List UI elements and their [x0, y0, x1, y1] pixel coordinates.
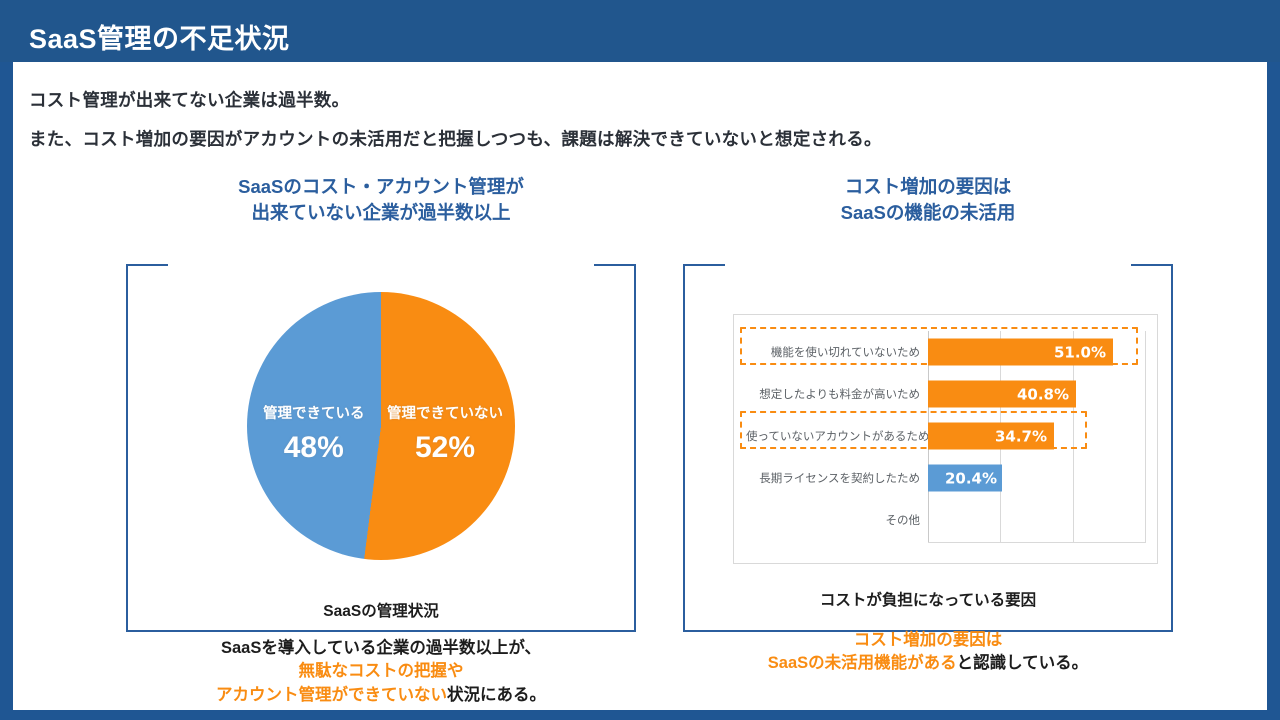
slide-root: SaaS管理の不足状況 コスト管理が出来てない企業は過半数。 また、コスト増加の… — [0, 0, 1280, 720]
panel-cost-drivers: コスト増加の要因は SaaSの機能の未活用 — [683, 174, 1173, 654]
bar-value: 34.7% — [928, 423, 1054, 450]
panel-right-footer: コスト増加の要因は SaaSの未活用機能があると認識している。 — [683, 629, 1173, 676]
bar-row: その他 — [746, 499, 1146, 541]
panel-right-footer-line-2-rest: と認識している。 — [957, 654, 1089, 672]
bar-value-label: 34.7% — [995, 427, 1054, 445]
bar-category-label: 長期ライセンスを契約したため — [746, 470, 928, 486]
gridline-baseline — [928, 542, 1146, 543]
bar-track — [928, 499, 1146, 541]
bar-value-label: 51.0% — [1054, 343, 1113, 361]
pie-chart-caption: SaaSの管理状況 — [126, 599, 636, 621]
bar-row: 想定したよりも料金が高いため 40.8% — [746, 373, 1146, 415]
bar-track: 20.4% — [928, 457, 1146, 499]
panel-left-title: SaaSのコスト・アカウント管理が 出来ていない企業が過半数以上 — [126, 174, 636, 227]
panel-right-footer-line-1: コスト増加の要因は — [683, 629, 1173, 652]
bar-category-label: 想定したよりも料金が高いため — [746, 386, 928, 402]
panel-right-title: コスト増加の要因は SaaSの機能の未活用 — [683, 174, 1173, 227]
bar-chart-caption: コストが負担になっている要因 — [683, 588, 1173, 610]
panel-left-footer: SaaSを導入している企業の過半数以上が、 無駄なコストの把握や アカウント管理… — [126, 637, 636, 707]
bar-value-label: 40.8% — [1017, 385, 1076, 403]
panel-left-footer-line-1: SaaSを導入している企業の過半数以上が、 — [126, 637, 636, 660]
panel-left-footer-line-3: アカウント管理ができていない状況にある。 — [126, 684, 636, 707]
bar-value: 51.0% — [928, 339, 1113, 366]
slide-body: コスト管理が出来てない企業は過半数。 また、コスト増加の要因がアカウントの未活用… — [13, 62, 1267, 710]
slide-header: SaaS管理の不足状況 — [0, 0, 1280, 62]
bar-category-label: その他 — [746, 512, 928, 528]
bar-value: 40.8% — [928, 381, 1076, 408]
bar-value-label: 20.4% — [945, 469, 1002, 487]
pie-slice-label-unmanaged: 管理できていない 52% — [387, 407, 503, 466]
page-title: SaaS管理の不足状況 — [29, 17, 290, 56]
bar-category-label: 機能を使い切れていないため — [746, 344, 928, 360]
pie-slice-label-managed: 管理できている 48% — [263, 407, 365, 466]
bar-track: 34.7% — [928, 415, 1146, 457]
panel-right-footer-line-2: SaaSの未活用機能があると認識している。 — [683, 652, 1173, 675]
pie-chart: 管理できている 48% 管理できていない 52% — [126, 292, 636, 592]
bar-row: 長期ライセンスを契約したため 20.4% — [746, 457, 1146, 499]
lead-line-2: また、コスト増加の要因がアカウントの未活用だと把握しつつも、課題は解決できていな… — [29, 126, 882, 151]
bar-chart-plot: 機能を使い切れていないため 51.0% 想定したよりも料金が高いため 40.8% — [746, 325, 1146, 555]
bar-chart: 機能を使い切れていないため 51.0% 想定したよりも料金が高いため 40.8% — [733, 314, 1158, 564]
bar-track: 51.0% — [928, 331, 1146, 373]
panel-left-footer-line-3-highlight: アカウント管理ができていない — [216, 686, 447, 704]
panel-left-footer-line-2: 無駄なコストの把握や — [126, 660, 636, 683]
panel-left-footer-line-3-rest: 状況にある。 — [447, 686, 546, 704]
panel-saas-management: SaaSのコスト・アカウント管理が 出来ていない企業が過半数以上 管理できている… — [126, 174, 636, 654]
lead-line-1: コスト管理が出来てない企業は過半数。 — [29, 87, 349, 112]
bar-row: 機能を使い切れていないため 51.0% — [746, 331, 1146, 373]
bar-track: 40.8% — [928, 373, 1146, 415]
panel-right-footer-line-2-highlight: SaaSの未活用機能がある — [768, 654, 957, 672]
bar-value: 20.4% — [928, 465, 1002, 492]
bar-row: 使っていないアカウントがあるため 34.7% — [746, 415, 1146, 457]
bar-category-label: 使っていないアカウントがあるため — [746, 428, 928, 444]
